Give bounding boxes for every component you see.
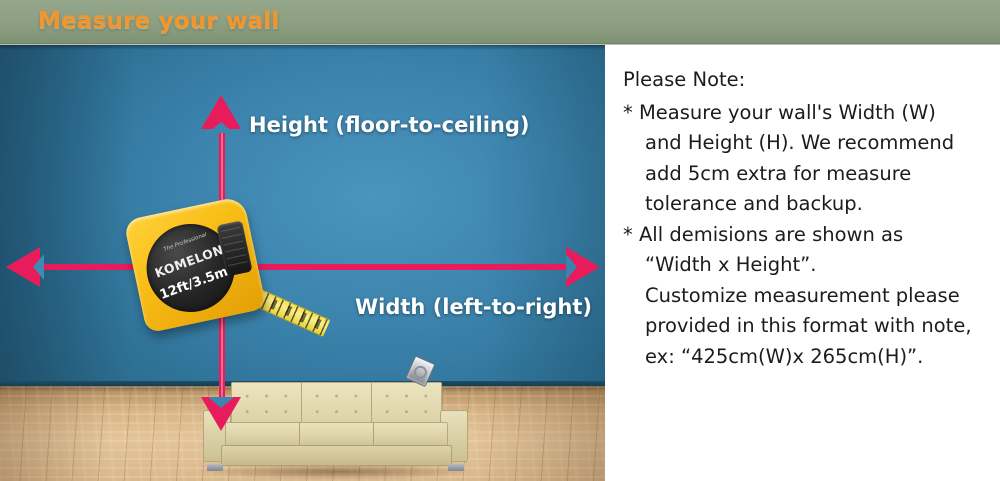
notes-panel: Please Note: * Measure your wall's Width… xyxy=(605,45,1000,481)
note-line-6: “Width x Height”. xyxy=(623,250,990,281)
sofa-shadow xyxy=(197,466,477,480)
header-banner: Measure your wall xyxy=(0,0,1000,44)
note-line-4: tolerance and backup. xyxy=(623,189,990,220)
sofa xyxy=(203,382,468,478)
tape-lock-grip xyxy=(221,227,249,270)
sofa-back-cushion xyxy=(232,383,302,424)
sofa-back-cushion xyxy=(372,383,441,424)
arrow-right-icon xyxy=(566,247,600,287)
notes-content: Please Note: * Measure your wall's Width… xyxy=(605,45,1000,372)
sofa-leg-left xyxy=(207,464,223,471)
sofa-leg-right xyxy=(448,464,464,471)
notes-heading: Please Note: xyxy=(623,65,990,96)
sofa-seat-cushion xyxy=(374,423,447,447)
note-line-3: add 5cm extra for measure xyxy=(623,159,990,190)
page-title: Measure your wall xyxy=(38,8,279,34)
note-line-2: and Height (H). We recommend xyxy=(623,128,990,159)
sofa-backrest xyxy=(231,382,442,425)
page-root: Measure your wall xyxy=(0,0,1000,481)
sofa-seat-cushion xyxy=(300,423,374,447)
sofa-back-cushion xyxy=(302,383,372,424)
sofa-base xyxy=(221,445,452,466)
width-label: Width (left-to-right) xyxy=(355,295,592,319)
arrow-up-icon xyxy=(201,95,241,129)
note-line-8: provided in this format with note, xyxy=(623,311,990,342)
note-line-7: Customize measurement please xyxy=(623,281,990,312)
note-line-1: * Measure your wall's Width (W) xyxy=(623,98,990,129)
note-line-9: ex: “425cm(W)x 265cm(H)”. xyxy=(623,342,990,373)
height-label: Height (floor-to-ceiling) xyxy=(249,113,530,137)
tape-measure: The Professional KOMELON 12ft/3.5m xyxy=(132,203,312,343)
arrow-left-icon xyxy=(6,247,40,287)
wall-top-shadow xyxy=(0,45,605,50)
tape-measure-body: The Professional KOMELON 12ft/3.5m xyxy=(123,196,266,334)
note-line-5: * All demisions are shown as xyxy=(623,220,990,251)
room-illustration: The Professional KOMELON 12ft/3.5m Heigh… xyxy=(0,45,605,481)
arrow-down-icon xyxy=(201,397,241,431)
